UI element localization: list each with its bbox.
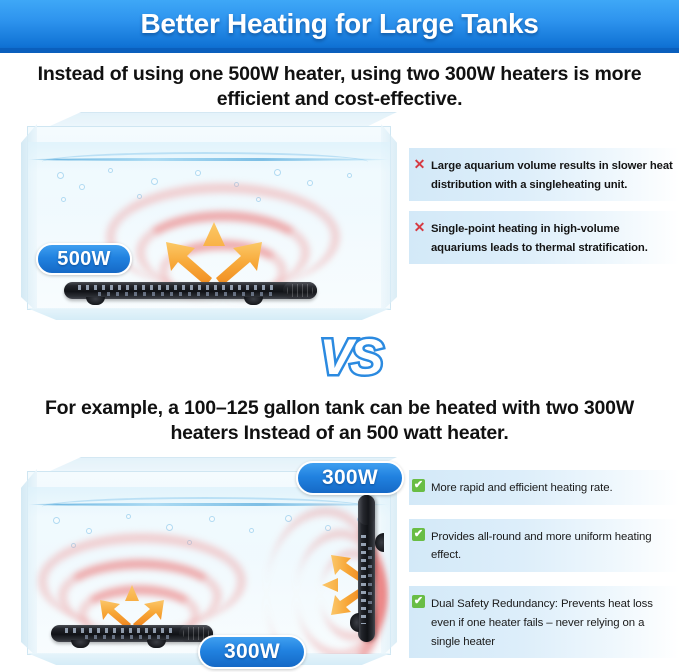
heater-indicator-row: [361, 535, 366, 624]
check-mark-icon: ✔: [412, 479, 425, 492]
pros-list: ✔ More rapid and efficient heating rate.…: [409, 470, 679, 672]
list-item: ✔ Dual Safety Redundancy: Prevents heat …: [409, 586, 679, 658]
check-mark-icon: ✔: [412, 528, 425, 541]
aquarium-tank-500w: [21, 112, 397, 320]
heater-indicator-row: [78, 285, 277, 290]
x-mark-icon: ✕: [412, 219, 427, 234]
list-item: ✔ More rapid and efficient heating rate.: [409, 470, 679, 505]
check-mark-icon: ✔: [412, 595, 425, 608]
list-item: ✕ Single-point heating in high-volume aq…: [409, 211, 679, 264]
water-surface-line: [28, 503, 390, 506]
aquarium-scene-500w: [21, 112, 397, 320]
heater-horizontal-500w: [64, 282, 317, 299]
badge-300w-vertical: 300W: [296, 461, 404, 495]
heater-indicator-row-secondary: [368, 547, 372, 616]
cons-list: ✕ Large aquarium volume results in slowe…: [409, 148, 679, 274]
vs-badge: VS: [312, 328, 388, 386]
water-surface-line: [28, 158, 390, 161]
badge-300w-horizontal: 300W: [198, 635, 306, 669]
badge-500w: 500W: [36, 243, 132, 275]
list-item-label: Provides all-round and more uniform heat…: [431, 531, 651, 562]
page-title: Better Heating for Large Tanks: [0, 0, 679, 48]
list-item-label: Dual Safety Redundancy: Prevents heat lo…: [431, 598, 653, 647]
heater-horizontal-300w: [51, 625, 213, 642]
list-item-label: Single-point heating in high-volume aqua…: [431, 223, 648, 254]
list-item: ✕ Large aquarium volume results in slowe…: [409, 148, 679, 201]
list-item-label: Large aquarium volume results in slower …: [431, 160, 673, 191]
heater-indicator-row-secondary: [98, 292, 273, 296]
tank-glass-bottom: [27, 308, 391, 320]
heater-ridges: [287, 284, 313, 297]
heater-indicator-row: [65, 628, 173, 633]
list-item: ✔ Provides all-round and more uniform he…: [409, 519, 679, 572]
heater-end-cap: [358, 495, 375, 525]
heater-indicator-row-secondary: [85, 635, 169, 639]
page-header: Better Heating for Large Tanks: [0, 0, 679, 53]
list-item-label: More rapid and efficient heating rate.: [431, 482, 613, 494]
heater-vertical-300w: [358, 495, 375, 642]
subtitle-top: Instead of using one 500W heater, using …: [18, 62, 661, 112]
subtitle-bottom: For example, a 100–125 gallon tank can b…: [18, 396, 661, 446]
x-mark-icon: ✕: [412, 156, 427, 171]
